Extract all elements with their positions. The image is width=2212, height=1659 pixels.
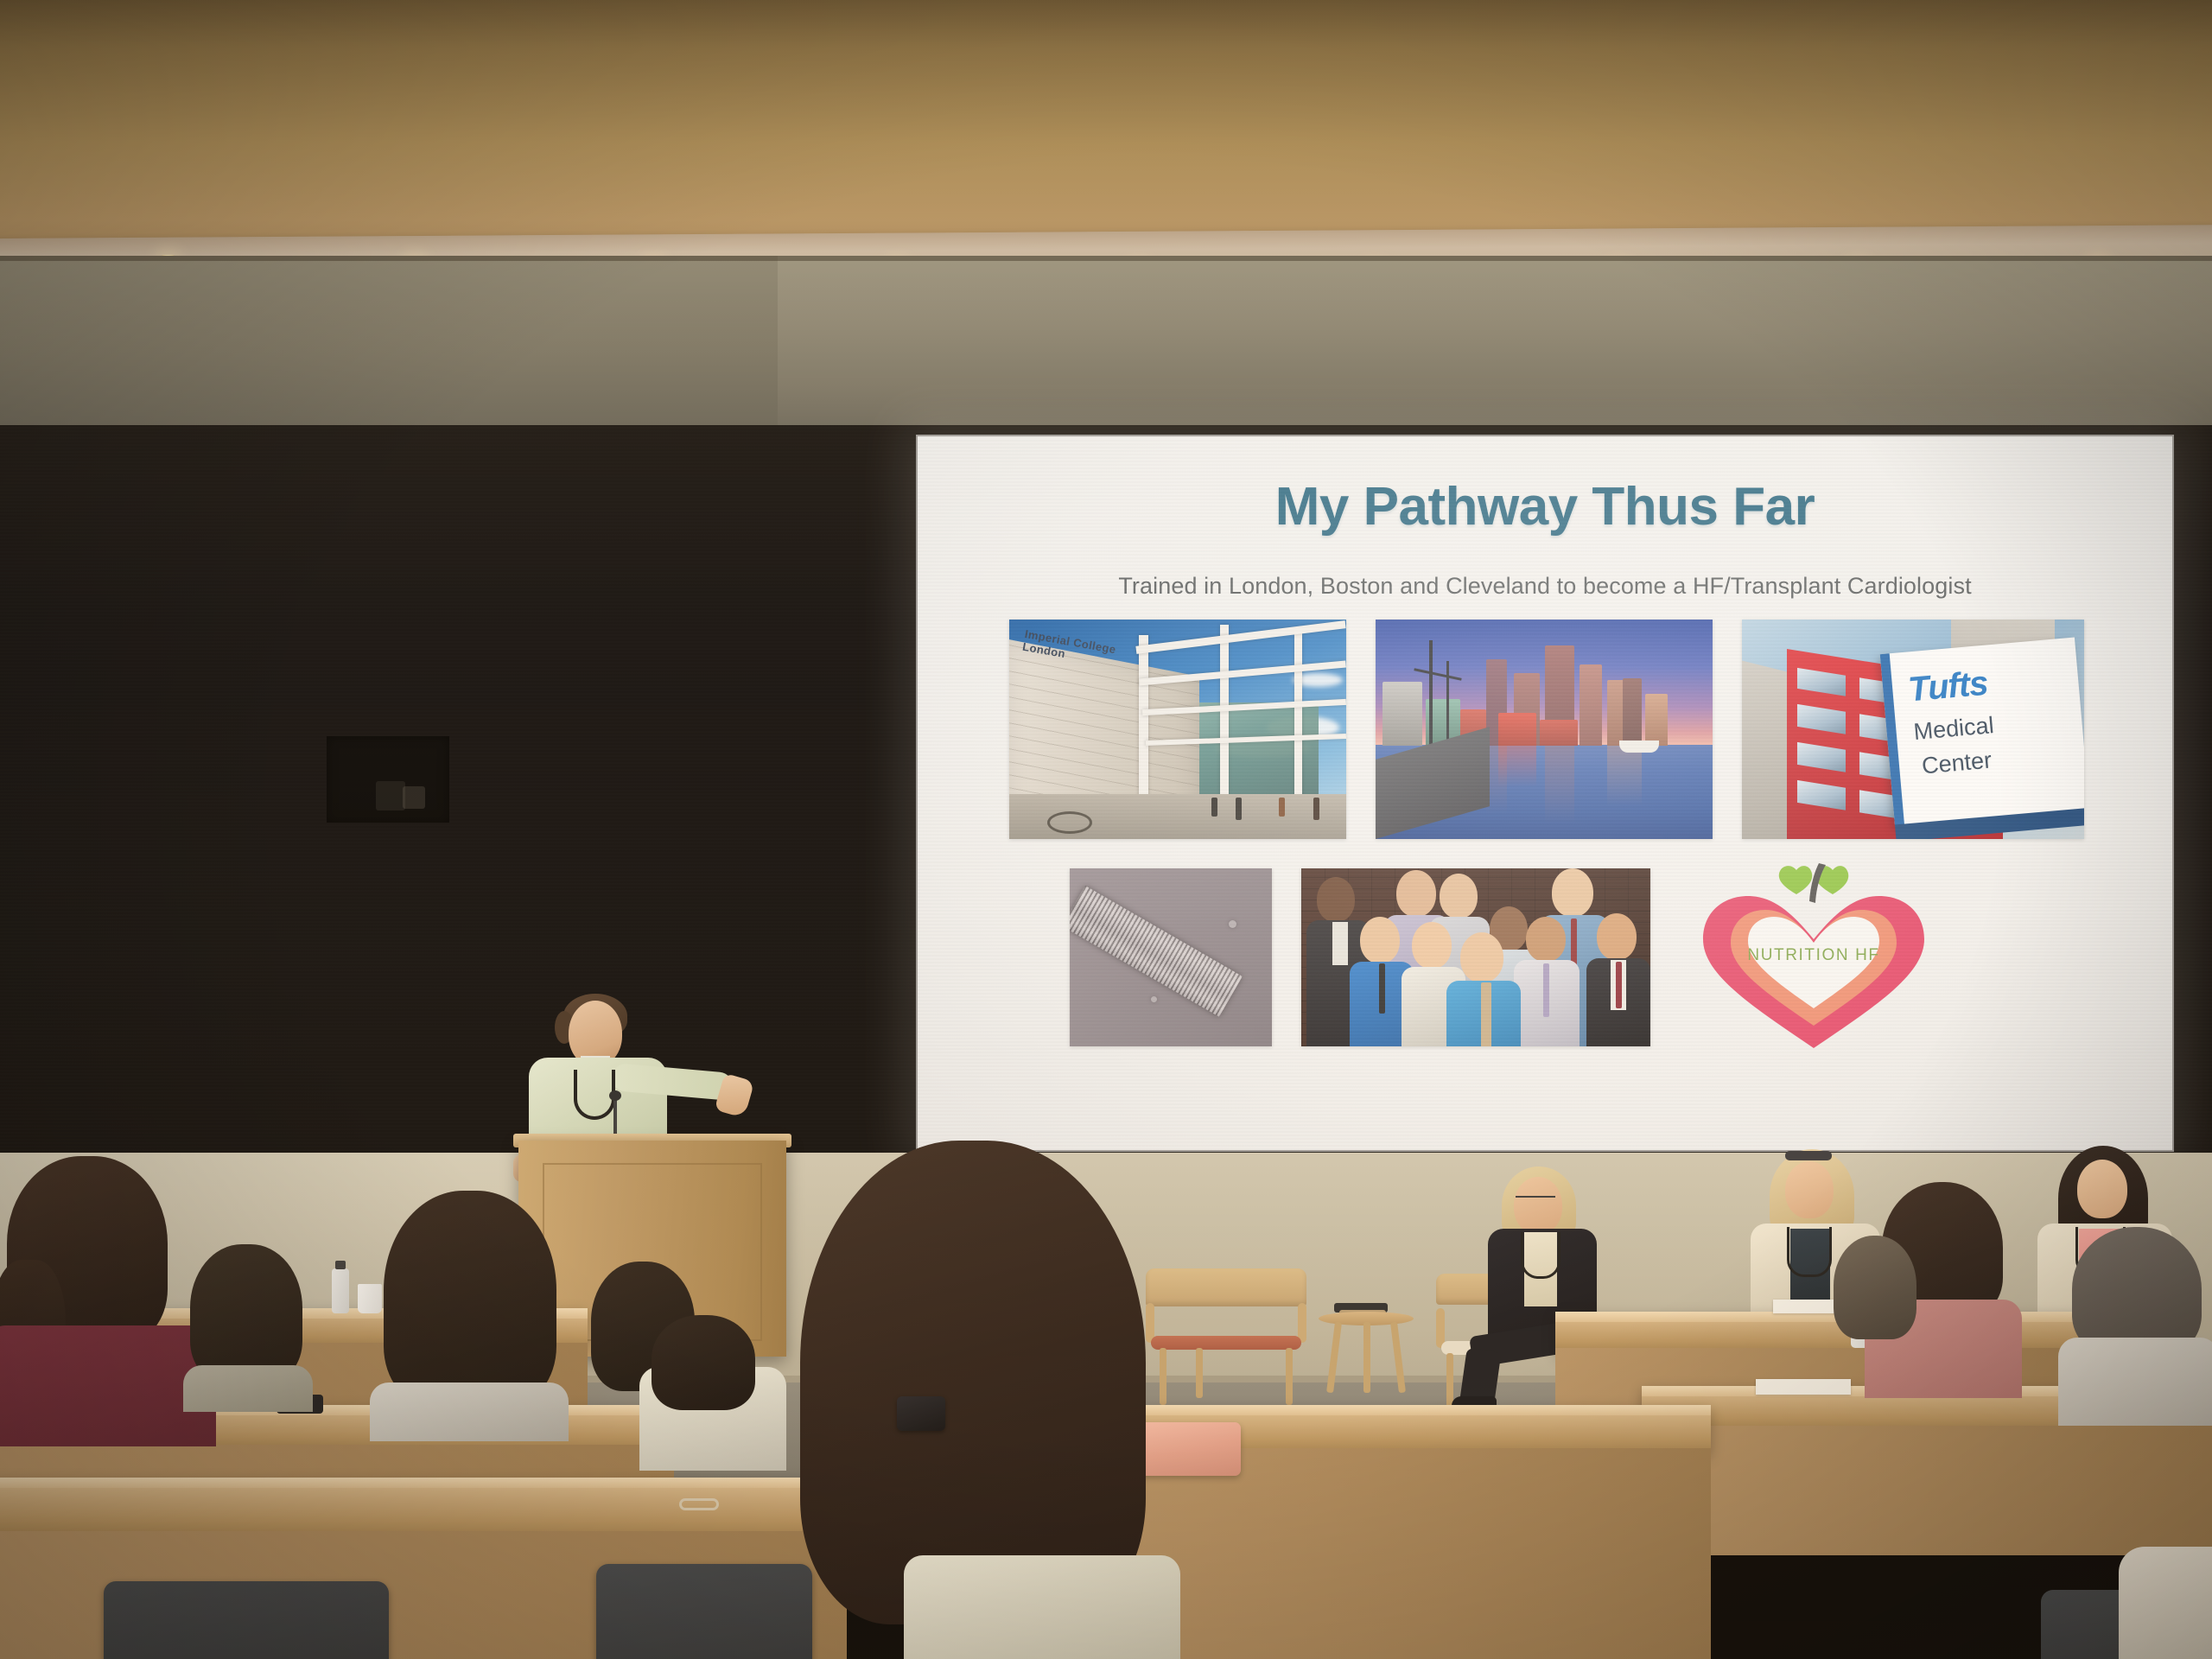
- person-head: [1317, 877, 1355, 922]
- building: [1498, 713, 1536, 746]
- pedestrian: [1236, 798, 1242, 820]
- window: [1797, 742, 1846, 772]
- panelist-1-head: [1514, 1177, 1562, 1234]
- slide-title: My Pathway Thus Far: [918, 476, 2172, 537]
- armchair-arm-right: [1298, 1303, 1306, 1343]
- attendee-hair: [384, 1191, 556, 1407]
- person-head: [1360, 917, 1400, 963]
- handout-paper: [1756, 1379, 1851, 1395]
- slide-photo-grid: Imperial College London: [985, 620, 2108, 1105]
- building: [1540, 720, 1578, 746]
- desk-edge: [0, 1478, 847, 1488]
- panelist-1-lanyard: [1521, 1232, 1560, 1279]
- group-person: [1514, 917, 1580, 1046]
- building: [1623, 678, 1642, 746]
- person-head: [1597, 913, 1637, 960]
- hair-claw-clip: [897, 1396, 945, 1431]
- tufts-medical-center-sign: Tufts Medical Center: [1880, 638, 2084, 827]
- photo-boston-skyline: [1376, 620, 1713, 839]
- building: [1382, 682, 1422, 746]
- attendee-torso: [370, 1382, 569, 1441]
- chair-foreground-left: [104, 1581, 389, 1659]
- microphone-icon: [609, 1090, 621, 1101]
- attendee-grey-hair: [2055, 1227, 2212, 1426]
- sign-line-2: Medical: [1912, 712, 1994, 746]
- person-necktie: [1379, 963, 1385, 1014]
- wall-niche: [327, 736, 449, 823]
- photo-imperial-college-london: Imperial College London: [1009, 620, 1346, 839]
- attendee-left-dark-long: [370, 1191, 569, 1441]
- attendee-torso: [904, 1555, 1180, 1659]
- upper-wall-left: [0, 256, 778, 429]
- panelist-1-glasses: [1516, 1196, 1555, 1203]
- person-necktie: [1543, 963, 1549, 1017]
- sign-brand: Tufts: [1907, 664, 1990, 710]
- attendee-hair: [190, 1244, 302, 1382]
- apple-heart-logo-icon: [1698, 891, 1929, 1052]
- water-reflection: [1545, 746, 1574, 823]
- side-table-leg: [1326, 1322, 1342, 1393]
- niche-object-a: [376, 781, 405, 810]
- attendee-torso: [2058, 1338, 2212, 1426]
- attendee-hair: [1834, 1236, 1916, 1339]
- attendee-hair: [800, 1141, 1146, 1624]
- attendee-left-small: [183, 1244, 313, 1408]
- armchair-leg: [1196, 1348, 1203, 1398]
- debris-particle: [1229, 920, 1236, 928]
- attendee-torso: [183, 1365, 313, 1412]
- side-table-leg: [1363, 1322, 1370, 1393]
- debris-particle: [1151, 996, 1157, 1002]
- boat: [1619, 741, 1659, 753]
- person-head: [1552, 868, 1593, 917]
- person-head: [1460, 932, 1503, 982]
- person-necktie: [1616, 962, 1622, 1008]
- apple-leaves-and-stem-icon: [1762, 861, 1866, 905]
- panelist-2-sunglasses-on-head: [1785, 1151, 1832, 1160]
- person-necktie: [1481, 982, 1491, 1046]
- slide-subtitle: Trained in London, Boston and Cleveland …: [918, 573, 2172, 600]
- photo-fellows-group: [1301, 868, 1650, 1046]
- group-person: [1586, 913, 1650, 1046]
- attendee-foreground-right-shoulder: [2119, 1547, 2212, 1659]
- group-person: [1446, 932, 1521, 1046]
- desk-right-row-2-panel: [1642, 1426, 2212, 1555]
- attendee-hair: [652, 1315, 755, 1410]
- niche-object-b: [403, 786, 425, 809]
- window: [1797, 780, 1846, 810]
- desk-left-row-3-front: [0, 1478, 847, 1538]
- photo-nutrition-hf-logo: NUTRITION HF: [1681, 856, 1946, 1060]
- water-reflection: [1498, 746, 1536, 787]
- ship-mast: [1446, 661, 1449, 746]
- building: [1645, 694, 1668, 746]
- photo-cardiomyocyte-micrograph: [1070, 868, 1272, 1046]
- eyeglasses: [679, 1498, 719, 1510]
- water-reflection: [1607, 746, 1642, 806]
- panelist-2-lanyard: [1787, 1227, 1832, 1277]
- armchair-leg: [1286, 1348, 1293, 1405]
- photo-tufts-medical-center: Tufts Medical Center: [1742, 620, 2084, 839]
- bicycle-icon: [1047, 811, 1092, 834]
- panelist-3-head: [2077, 1160, 2127, 1218]
- hand-sanitizer-bottle: [332, 1268, 349, 1313]
- nutrition-hf-logo-text: NUTRITION HF: [1747, 946, 1879, 965]
- attendee-foreground-claw-clip: [778, 1141, 1175, 1659]
- upper-wall-edge: [0, 256, 2212, 261]
- sign-line-3: Center: [1921, 747, 1993, 779]
- pedestrian: [1313, 798, 1319, 820]
- pedestrian: [1211, 798, 1217, 817]
- window: [1797, 668, 1846, 696]
- pergola-post: [1220, 625, 1229, 820]
- panelist-2-head: [1785, 1161, 1834, 1218]
- person-head: [1440, 874, 1478, 918]
- window: [1797, 704, 1846, 734]
- chair-foreground-center: [596, 1564, 812, 1659]
- ceiling: [0, 0, 2212, 259]
- lecture-hall-scene: My Pathway Thus Far Trained in London, B…: [0, 0, 2212, 1659]
- pergola-post: [1294, 633, 1302, 817]
- ship-mast: [1429, 640, 1433, 746]
- stage-side-table: [1319, 1312, 1414, 1403]
- side-table-leg: [1390, 1322, 1406, 1393]
- attendee-right-back: [1828, 1236, 1923, 1365]
- projected-slide: My Pathway Thus Far Trained in London, B…: [918, 436, 2172, 1150]
- pedestrian: [1279, 798, 1285, 817]
- person-head: [1526, 917, 1566, 962]
- attendee-left-white-top: [639, 1315, 786, 1471]
- person-shirt: [1332, 922, 1348, 965]
- building: [1580, 664, 1602, 746]
